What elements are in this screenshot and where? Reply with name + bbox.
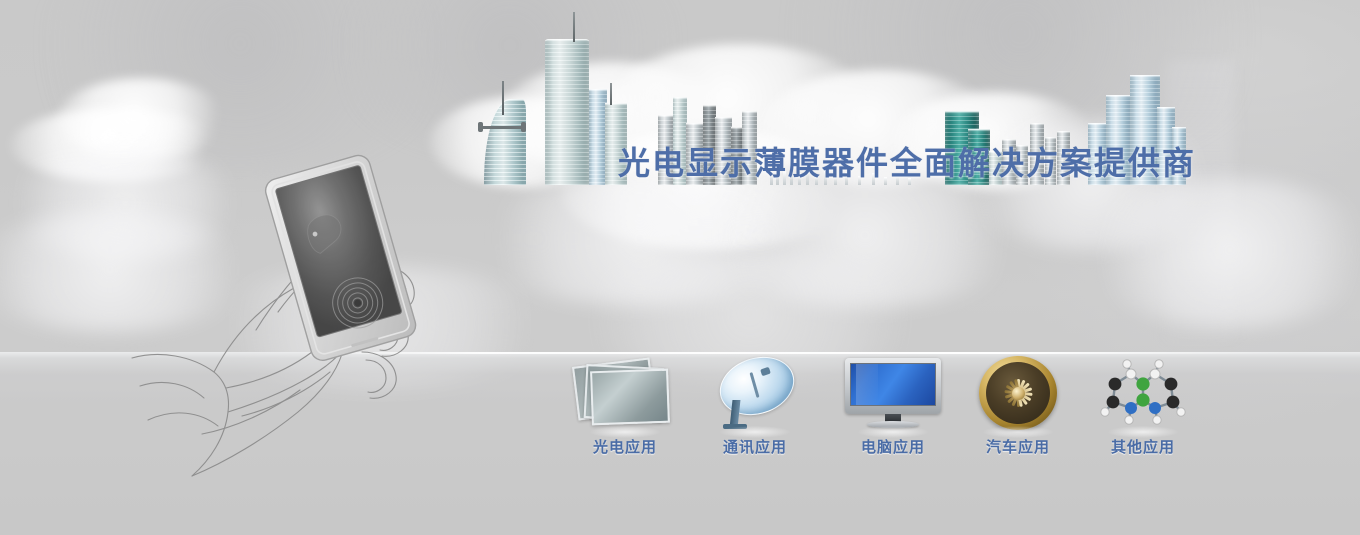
page-title: 光电显示薄膜器件全面解决方案提供商 bbox=[618, 138, 1196, 184]
monitor-icon bbox=[830, 352, 956, 430]
application-item-other[interactable]: 其他应用 bbox=[1080, 352, 1206, 457]
molecule-icon bbox=[1080, 352, 1206, 430]
application-item-optoelectronic[interactable]: 光电应用 bbox=[562, 352, 688, 457]
satellite-dish-icon bbox=[692, 352, 818, 430]
application-label: 其他应用 bbox=[1080, 436, 1206, 457]
application-item-computer[interactable]: 电脑应用 bbox=[830, 352, 956, 457]
landmark-sail-tower bbox=[476, 97, 532, 185]
application-item-automotive[interactable]: 汽车应用 bbox=[955, 352, 1081, 457]
application-label: 光电应用 bbox=[562, 436, 688, 457]
hero-banner: 光电显示薄膜器件全面解决方案提供商 光电应用 bbox=[0, 0, 1360, 535]
application-label: 电脑应用 bbox=[830, 436, 956, 457]
application-label: 通讯应用 bbox=[692, 436, 818, 457]
application-label: 汽车应用 bbox=[955, 436, 1081, 457]
glass-film-stack-icon bbox=[562, 352, 688, 430]
alloy-wheel-icon bbox=[955, 352, 1081, 430]
application-item-communication[interactable]: 通讯应用 bbox=[692, 352, 818, 457]
application-list: 光电应用 通讯应用 bbox=[0, 352, 1360, 472]
